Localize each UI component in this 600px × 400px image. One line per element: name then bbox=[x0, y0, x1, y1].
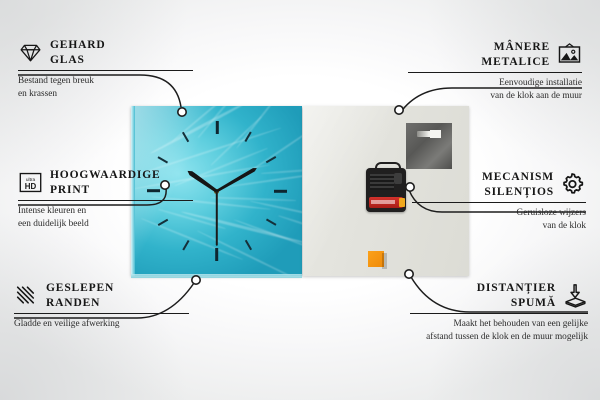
callout-title-line1: MECANISM bbox=[482, 171, 554, 183]
callout-distantier-spuma: DISTANȚIER SPUMĂ Maakt het behouden van … bbox=[410, 281, 588, 343]
callout-header: GESLEPEN RANDEN bbox=[14, 281, 189, 310]
callout-description: Bestand tegen breuk en krassen bbox=[18, 75, 193, 100]
callout-rule bbox=[14, 313, 189, 314]
diamond-icon bbox=[18, 40, 43, 65]
callout-title: GEHARD GLAS bbox=[50, 38, 106, 67]
callout-title: DISTANȚIER SPUMĂ bbox=[477, 281, 556, 310]
callout-desc-line2: afstand tussen de klok en de muur mogeli… bbox=[426, 332, 588, 342]
callout-desc-line2: een duidelijk beeld bbox=[18, 219, 89, 229]
callout-header: MÂNERE METALICE bbox=[408, 40, 582, 69]
battery bbox=[369, 197, 403, 208]
callout-title-line1: MÂNERE bbox=[494, 41, 550, 53]
callout-desc-line1: Geruisloze wijzers bbox=[517, 208, 586, 218]
callout-description: Geruisloze wijzers van de klok bbox=[412, 207, 586, 232]
svg-text:HD: HD bbox=[25, 182, 37, 191]
mechanism-knob bbox=[394, 173, 402, 184]
spacer-arrow-icon bbox=[563, 283, 588, 308]
callout-header: MECANISM SILENȚIOS bbox=[412, 170, 586, 199]
callout-title-line2: PRINT bbox=[50, 184, 90, 196]
callout-title-line2: RANDEN bbox=[46, 297, 100, 309]
callout-desc-line1: Eenvoudige installatie bbox=[499, 78, 582, 88]
callout-title: GESLEPEN RANDEN bbox=[46, 281, 114, 310]
callout-title-line1: GEHARD bbox=[50, 39, 106, 51]
spacer-shadow bbox=[382, 253, 387, 269]
callout-title-line2: GLAS bbox=[50, 54, 85, 66]
callout-title-line2: SPUMĂ bbox=[511, 297, 556, 309]
bevelled-edges-icon bbox=[14, 283, 39, 308]
callout-title-line2: METALICE bbox=[481, 56, 550, 68]
callout-geslepen-randen: GESLEPEN RANDEN Gladde en veilige afwerk… bbox=[14, 281, 189, 331]
callout-desc-line2: van de klok aan de muur bbox=[490, 91, 582, 101]
callout-title-line1: GESLEPEN bbox=[46, 282, 114, 294]
callout-title: HOOGWAARDIGE PRINT bbox=[50, 168, 161, 197]
callout-title: MECANISM SILENȚIOS bbox=[482, 170, 554, 199]
callout-rule bbox=[412, 202, 586, 203]
callout-description: Gladde en veilige afwerking bbox=[14, 318, 189, 330]
hanger-keyhole bbox=[430, 130, 441, 138]
callout-desc-line2: van de klok bbox=[543, 221, 586, 231]
picture-frame-icon bbox=[557, 42, 582, 67]
callout-rule bbox=[408, 72, 582, 73]
callout-title-line2: SILENȚIOS bbox=[484, 186, 554, 198]
metal-hanger-plate bbox=[406, 123, 452, 169]
callout-desc-line1: Bestand tegen breuk bbox=[18, 76, 94, 86]
battery-label bbox=[371, 200, 395, 204]
callout-title-line1: HOOGWAARDIGE bbox=[50, 169, 161, 181]
callout-mecanism-silentios: MECANISM SILENȚIOS Geruisloze wijzers va… bbox=[412, 170, 586, 232]
infographic-canvas: GEHARD GLAS Bestand tegen breuk en krass… bbox=[0, 0, 600, 400]
gear-icon bbox=[561, 172, 586, 197]
battery-terminal bbox=[399, 198, 405, 207]
callout-header: DISTANȚIER SPUMĂ bbox=[410, 281, 588, 310]
callout-desc-line1: Intense kleuren en bbox=[18, 206, 86, 216]
clock-mechanism bbox=[366, 168, 406, 212]
callout-description: Eenvoudige installatie van de klok aan d… bbox=[408, 77, 582, 102]
callout-manere-metalice: MÂNERE METALICE Eenvoudige installatie v… bbox=[408, 40, 582, 102]
glass-bottom-edge bbox=[131, 274, 302, 278]
callout-rule bbox=[18, 200, 193, 201]
clock-second-hand bbox=[216, 191, 218, 246]
callout-description: Maakt het behouden van een gelijke afsta… bbox=[370, 318, 588, 343]
callout-header: GEHARD GLAS bbox=[18, 38, 193, 67]
foam-spacer-pad bbox=[368, 251, 384, 267]
callout-title-line1: DISTANȚIER bbox=[477, 282, 556, 294]
callout-gehard-glas: GEHARD GLAS Bestand tegen breuk en krass… bbox=[18, 38, 193, 100]
callout-desc-line1: Maakt het behouden van een gelijke bbox=[454, 319, 589, 329]
callout-rule bbox=[410, 313, 588, 314]
callout-header: ultra HD HOOGWAARDIGE PRINT bbox=[18, 168, 193, 197]
clock-minute-hand bbox=[216, 166, 258, 192]
ultra-hd-icon: ultra HD bbox=[18, 170, 43, 195]
callout-title: MÂNERE METALICE bbox=[481, 40, 550, 69]
callout-desc-line2: en krassen bbox=[18, 89, 57, 99]
callout-rule bbox=[18, 70, 193, 71]
callout-description: Intense kleuren en een duidelijk beeld bbox=[18, 205, 193, 230]
callout-hoogwaardige-print: ultra HD HOOGWAARDIGE PRINT Intense kleu… bbox=[18, 168, 193, 230]
mechanism-ribs bbox=[370, 174, 394, 190]
callout-desc-line1: Gladde en veilige afwerking bbox=[14, 319, 120, 329]
